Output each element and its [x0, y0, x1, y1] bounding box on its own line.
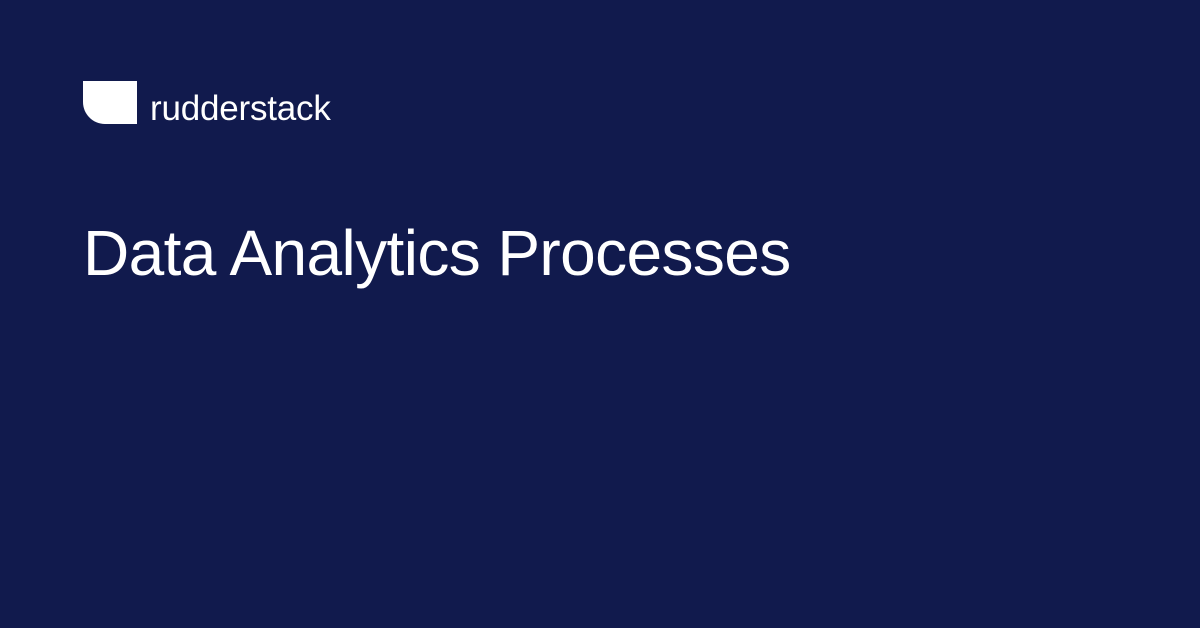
rudderstack-sail-mark-icon — [83, 81, 137, 124]
brand-wordmark: rudderstack — [150, 91, 331, 126]
page-title: Data Analytics Processes — [83, 218, 791, 290]
og-share-card: rudderstack Data Analytics Processes — [0, 0, 1200, 628]
brand-lockup[interactable]: rudderstack — [83, 80, 1200, 124]
